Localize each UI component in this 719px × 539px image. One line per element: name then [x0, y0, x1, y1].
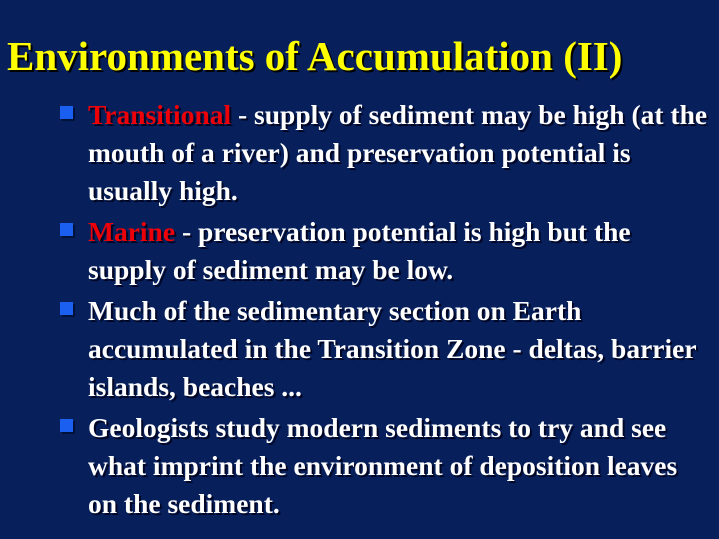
list-item-body: Geologists study modern sediments to try…: [88, 412, 677, 519]
list-item-text: Geologists study modern sediments to try…: [88, 412, 677, 519]
list-item-text: Much of the sedimentary section on Earth…: [88, 295, 696, 402]
list-item-keyword: Transitional: [88, 99, 231, 130]
list-item: Geologists study modern sediments to try…: [58, 409, 708, 523]
list-item: Transitional - supply of sediment may be…: [58, 96, 708, 210]
list-item-text: Marine - preservation potential is high …: [88, 216, 631, 285]
bullet-square-icon: [60, 419, 73, 432]
bullet-square-icon: [60, 223, 73, 236]
bullet-square-icon: [60, 106, 73, 119]
bullet-list: Transitional - supply of sediment may be…: [58, 96, 708, 526]
list-item-keyword: Marine: [88, 216, 175, 247]
bullet-square-icon: [60, 302, 73, 315]
list-item: Marine - preservation potential is high …: [58, 213, 708, 289]
page-title: Environments of Accumulation (II): [7, 33, 712, 79]
list-item-text: Transitional - supply of sediment may be…: [88, 99, 707, 206]
list-item: Much of the sedimentary section on Earth…: [58, 292, 708, 406]
list-item-body: Much of the sedimentary section on Earth…: [88, 295, 696, 402]
presentation-slide: Environments of Accumulation (II) Transi…: [0, 0, 719, 539]
